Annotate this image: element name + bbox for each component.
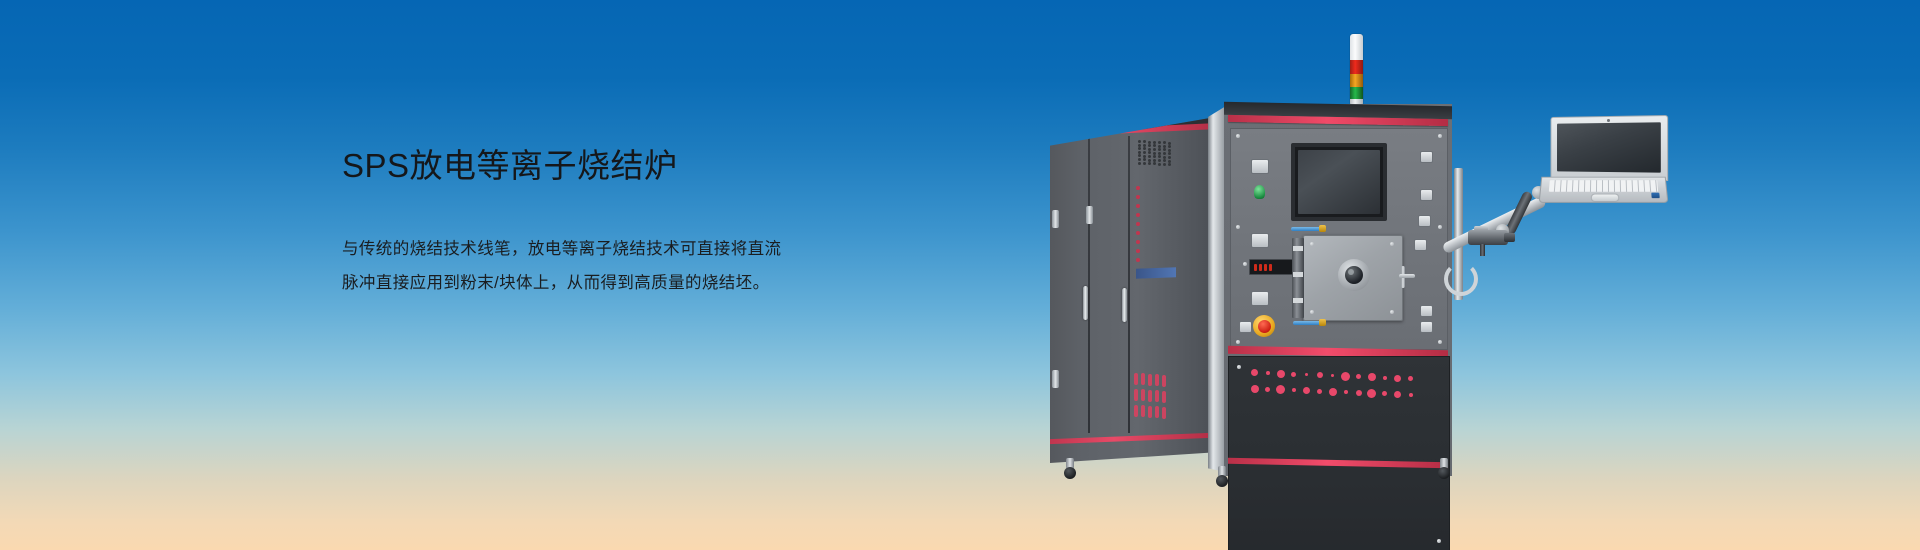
vent-hole: [1163, 156, 1166, 159]
hero-text-block: SPS放电等离子烧结炉 与传统的烧结技术线笔，放电等离子烧结技术可直接将直流 脉…: [342, 145, 862, 300]
readout-digit: [1259, 264, 1262, 271]
indicator-mark: [1136, 231, 1140, 235]
tower-segment-white: [1350, 34, 1363, 60]
vent-hole: [1158, 148, 1161, 151]
rail-block: [1293, 246, 1303, 251]
caster-tire: [1216, 475, 1228, 487]
vent-dot: [1341, 372, 1350, 381]
hero-paragraph-line-2: 脉冲直接应用到粉末/块体上，从而得到高质量的烧结坯。: [342, 266, 862, 300]
vent-slot: [1155, 390, 1159, 402]
caster-wheel: [1216, 466, 1228, 486]
usb-port[interactable]: [1414, 239, 1427, 251]
laptop-screen: [1557, 122, 1661, 172]
vent-dot: [1317, 389, 1322, 394]
vent-dot: [1265, 387, 1270, 392]
side-cabinet-hinge-bottom: [1052, 370, 1059, 388]
vent-hole: [1163, 148, 1166, 151]
vent-hole: [1148, 144, 1151, 147]
vent-slot: [1141, 389, 1145, 401]
vent-hole: [1158, 159, 1161, 162]
panel-screw: [1438, 225, 1442, 229]
chamber-screw: [1390, 310, 1394, 314]
vent-hole: [1143, 158, 1146, 161]
chamber-screw: [1390, 242, 1394, 246]
indicator-switch-1[interactable]: [1420, 151, 1433, 163]
vent-hole: [1158, 152, 1161, 155]
tower-segment-green: [1350, 87, 1363, 99]
vent-dot: [1251, 385, 1259, 393]
vent-hole: [1148, 151, 1151, 154]
coolant-fitting-bottom: [1319, 319, 1326, 326]
vent-dot: [1368, 373, 1376, 381]
vent-slot: [1155, 406, 1159, 418]
sps-furnace-image: [1040, 18, 1660, 488]
power-switch[interactable]: [1251, 159, 1269, 174]
vent-hole: [1148, 155, 1151, 158]
vent-dot: [1394, 391, 1401, 398]
control-laptop[interactable]: [1540, 116, 1665, 202]
indicator-mark: [1136, 222, 1140, 226]
readout-fastener: [1243, 262, 1247, 266]
vent-dot: [1251, 369, 1258, 376]
side-cabinet-handle-right[interactable]: [1122, 288, 1127, 322]
coolant-pipe-bottom: [1293, 321, 1321, 325]
mode-switch-upper[interactable]: [1251, 233, 1269, 248]
vent-dot: [1344, 390, 1348, 394]
vent-dot: [1277, 370, 1285, 378]
vent-hole: [1168, 142, 1171, 145]
vent-hole: [1163, 141, 1166, 144]
side-cabinet-red-trim-bottom: [1050, 433, 1210, 444]
chamber-slide-rail: [1292, 238, 1304, 318]
vent-hole: [1153, 155, 1156, 158]
caster-tire: [1438, 467, 1450, 479]
sight-glass-lens: [1345, 266, 1363, 284]
lower-access-door[interactable]: [1228, 356, 1450, 550]
vent-slot: [1148, 390, 1152, 402]
display-glass: [1298, 150, 1380, 214]
vent-hole: [1143, 147, 1146, 150]
camera-lens: [1504, 233, 1515, 242]
rail-block: [1293, 298, 1303, 303]
vent-dot: [1382, 391, 1387, 396]
latch-lever: [1399, 274, 1415, 278]
hero-paragraph-line-1: 与传统的烧结技术线笔，放电等离子烧结技术可直接将直流: [342, 232, 862, 266]
vent-dot: [1276, 385, 1285, 394]
camera-mount: [1480, 244, 1485, 256]
process-camera: [1460, 226, 1516, 256]
vent-hole: [1158, 145, 1161, 148]
vent-hole: [1148, 141, 1151, 144]
mode-switch-lower[interactable]: [1251, 291, 1269, 306]
vent-hole: [1148, 148, 1151, 151]
coolant-fitting-top: [1319, 225, 1326, 232]
indicator-mark: [1136, 204, 1140, 208]
coolant-pipe-top: [1291, 227, 1321, 231]
vent-slot: [1148, 374, 1152, 386]
vent-dot: [1408, 376, 1413, 381]
laptop-lid: [1551, 115, 1669, 181]
vent-hole: [1168, 163, 1171, 166]
hero-banner: SPS放电等离子烧结炉 与传统的烧结技术线笔，放电等离子烧结技术可直接将直流 脉…: [0, 0, 1920, 550]
vent-slot: [1162, 407, 1166, 419]
vent-slot: [1148, 406, 1152, 418]
laptop-trackpad[interactable]: [1590, 194, 1619, 202]
vent-hole: [1138, 158, 1141, 161]
vent-hole: [1148, 162, 1151, 165]
touch-panel-display[interactable]: [1291, 143, 1387, 221]
monitor-arm-clamp: [1444, 262, 1478, 296]
vent-hole: [1138, 140, 1141, 143]
readout-digit: [1269, 264, 1272, 271]
vent-hole: [1163, 152, 1166, 155]
camera-body: [1468, 230, 1508, 245]
chamber-sight-glass: [1338, 259, 1370, 291]
vent-dot: [1292, 388, 1296, 392]
indicator-switch-2[interactable]: [1420, 189, 1433, 201]
vent-hole: [1153, 144, 1156, 147]
key-switch[interactable]: [1254, 185, 1265, 199]
vent-hole: [1143, 144, 1146, 147]
panel-screw: [1236, 225, 1240, 229]
panel-screw: [1236, 134, 1240, 138]
emergency-stop-button[interactable]: [1253, 315, 1275, 337]
page-title: SPS放电等离子烧结炉: [342, 145, 862, 186]
vent-slot: [1162, 375, 1166, 387]
side-cabinet-door-seam-1: [1088, 136, 1090, 433]
panel-screw: [1438, 340, 1442, 344]
vent-hole: [1153, 141, 1156, 144]
vent-hole: [1143, 155, 1146, 158]
vent-hole: [1168, 145, 1171, 148]
vent-dot: [1356, 390, 1362, 396]
indicator-mark: [1136, 213, 1140, 217]
control-panel: [1230, 128, 1448, 350]
indicator-mark: [1136, 186, 1140, 190]
vent-hole: [1163, 163, 1166, 166]
chamber-latch-handle[interactable]: [1399, 266, 1415, 288]
panel-screw: [1438, 134, 1442, 138]
vent-hole: [1138, 154, 1141, 157]
vent-hole: [1143, 140, 1146, 143]
chamber-screw: [1310, 242, 1314, 246]
vent-hole: [1148, 159, 1151, 162]
indicator-switch-3[interactable]: [1418, 215, 1431, 227]
tower-segment-amber: [1350, 74, 1363, 87]
lower-door-screw: [1237, 365, 1241, 369]
laptop-webcam-icon: [1607, 119, 1610, 122]
side-cabinet-red-trim-top: [1050, 123, 1210, 136]
vent-hole: [1163, 159, 1166, 162]
vent-hole: [1168, 160, 1171, 163]
vent-dot: [1317, 372, 1323, 378]
caster-wheel: [1064, 458, 1076, 478]
readout-digit: [1264, 264, 1267, 271]
vent-hole: [1153, 162, 1156, 165]
vent-hole: [1168, 149, 1171, 152]
vent-hole: [1153, 159, 1156, 162]
vent-dot: [1266, 371, 1270, 375]
vent-hole: [1138, 147, 1141, 150]
vent-hole: [1138, 144, 1141, 147]
vent-dot: [1394, 375, 1401, 382]
vent-dot: [1383, 376, 1387, 380]
signal-tower-light-icon: [1350, 34, 1363, 106]
indicator-switch-6[interactable]: [1239, 321, 1252, 333]
vent-dot: [1291, 372, 1296, 377]
vent-hole: [1168, 152, 1171, 155]
vent-slot: [1134, 389, 1138, 401]
vent-hole: [1153, 152, 1156, 155]
indicator-mark: [1136, 249, 1140, 253]
vent-dot: [1305, 373, 1308, 376]
vent-hole: [1153, 148, 1156, 151]
readout-digit: [1254, 264, 1257, 271]
vacuum-chamber-door[interactable]: [1303, 235, 1403, 321]
vent-slot: [1162, 391, 1166, 403]
side-cabinet-door-seam-2: [1128, 136, 1130, 433]
vent-slot: [1134, 373, 1138, 385]
indicator-mark: [1136, 240, 1140, 244]
vent-slot: [1141, 405, 1145, 417]
vent-dot: [1356, 374, 1361, 379]
vent-hole: [1138, 151, 1141, 154]
vent-hole: [1158, 141, 1161, 144]
lower-door-screw: [1437, 539, 1441, 543]
side-cabinet-hinge-mid: [1086, 206, 1093, 224]
laptop-badge: [1651, 193, 1660, 198]
caster-wheel: [1438, 458, 1450, 478]
caster-tire: [1064, 467, 1076, 479]
vent-slot: [1155, 374, 1159, 386]
vent-dot: [1367, 389, 1376, 398]
vent-hole: [1143, 162, 1146, 165]
side-cabinet-hinge-top: [1052, 210, 1059, 228]
vent-slot: [1134, 405, 1138, 417]
vent-hole: [1163, 145, 1166, 148]
side-cabinet-vent-grid: [1138, 140, 1172, 166]
tower-segment-red: [1350, 60, 1363, 74]
vent-hole: [1138, 162, 1141, 165]
vent-dot: [1331, 374, 1334, 377]
emergency-stop-cap: [1258, 320, 1271, 333]
machine-front-body: [1224, 104, 1452, 476]
vent-hole: [1158, 155, 1161, 158]
laptop-keyboard[interactable]: [1549, 180, 1658, 192]
rail-block: [1293, 272, 1303, 277]
indicator-mark: [1136, 258, 1140, 262]
laptop-base: [1539, 177, 1669, 203]
side-cabinet: [1050, 118, 1210, 463]
vent-dot: [1303, 387, 1310, 394]
vent-dot: [1409, 393, 1413, 397]
vent-slot: [1141, 373, 1145, 385]
side-cabinet-handle-left[interactable]: [1083, 286, 1088, 320]
indicator-switch-5[interactable]: [1420, 321, 1433, 333]
indicator-switch-4[interactable]: [1420, 305, 1433, 317]
vent-dot: [1329, 388, 1337, 396]
indicator-mark: [1136, 195, 1140, 199]
vent-hole: [1158, 163, 1161, 166]
vent-hole: [1168, 156, 1171, 159]
vent-hole: [1143, 151, 1146, 154]
chamber-screw: [1310, 310, 1314, 314]
panel-screw: [1236, 340, 1240, 344]
manufacturer-logo: [1136, 267, 1176, 278]
